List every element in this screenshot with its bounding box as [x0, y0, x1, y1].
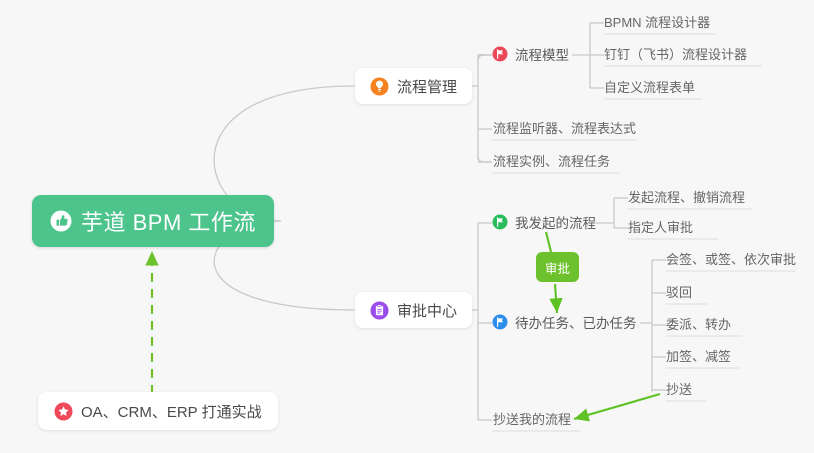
leaf-node[interactable]: 加签、减签 — [662, 346, 735, 370]
topic-label-process-model: 流程模型 — [515, 44, 569, 64]
leaf-node[interactable]: 会签、或签、依次审批 — [662, 249, 800, 273]
integration-node[interactable]: OA、CRM、ERP 打通实战 — [38, 392, 278, 430]
flag-icon — [492, 46, 508, 62]
star-badge-icon — [54, 402, 73, 421]
topic-label-my-initiated-processes: 我发起的流程 — [515, 212, 596, 232]
branch-node-process-management[interactable]: 流程管理 — [355, 68, 472, 104]
root-node[interactable]: 芋道 BPM 工作流 — [32, 195, 274, 247]
root-label: 芋道 BPM 工作流 — [81, 205, 256, 237]
topic-node-process-model[interactable]: 流程模型 — [492, 44, 569, 64]
leaf-node[interactable]: 钉钉（飞书）流程设计器 — [600, 44, 751, 68]
leaf-node[interactable]: 抄送我的流程 — [489, 409, 575, 433]
topic-node-my-initiated-processes[interactable]: 我发起的流程 — [492, 212, 596, 232]
flag-icon — [492, 314, 508, 330]
leaf-node[interactable]: 抄送 — [662, 379, 696, 403]
thumbs-up-icon — [50, 210, 72, 232]
leaf-node[interactable]: 流程实例、流程任务 — [489, 151, 614, 175]
flag-icon — [492, 214, 508, 230]
leaf-node[interactable]: 指定人审批 — [624, 217, 697, 241]
topic-label-todo-done-tasks: 待办任务、已办任务 — [515, 312, 637, 332]
leaf-node[interactable]: 驳回 — [662, 282, 696, 306]
cc-flow-arrow — [574, 394, 660, 419]
branch-label-process-management: 流程管理 — [397, 76, 457, 97]
leaf-node[interactable]: 流程监听器、流程表达式 — [489, 118, 640, 142]
mindmap-canvas: 芋道 BPM 工作流 OA、CRM、ERP 打通实战 流程管理 — [0, 0, 814, 453]
leaf-node[interactable]: 委派、转办 — [662, 314, 735, 338]
annotation-approval-label: 审批 — [536, 252, 579, 282]
branch-label-approval-center: 审批中心 — [397, 300, 457, 321]
branch-node-approval-center[interactable]: 审批中心 — [355, 292, 472, 328]
leaf-node[interactable]: BPMN 流程设计器 — [600, 12, 714, 36]
leaf-node[interactable]: 发起流程、撤销流程 — [624, 187, 749, 211]
leaf-node[interactable]: 自定义流程表单 — [600, 77, 699, 101]
lightbulb-icon — [370, 77, 389, 96]
integration-node-label: OA、CRM、ERP 打通实战 — [81, 401, 262, 422]
topic-node-todo-done-tasks[interactable]: 待办任务、已办任务 — [492, 312, 637, 332]
clipboard-icon — [370, 301, 389, 320]
